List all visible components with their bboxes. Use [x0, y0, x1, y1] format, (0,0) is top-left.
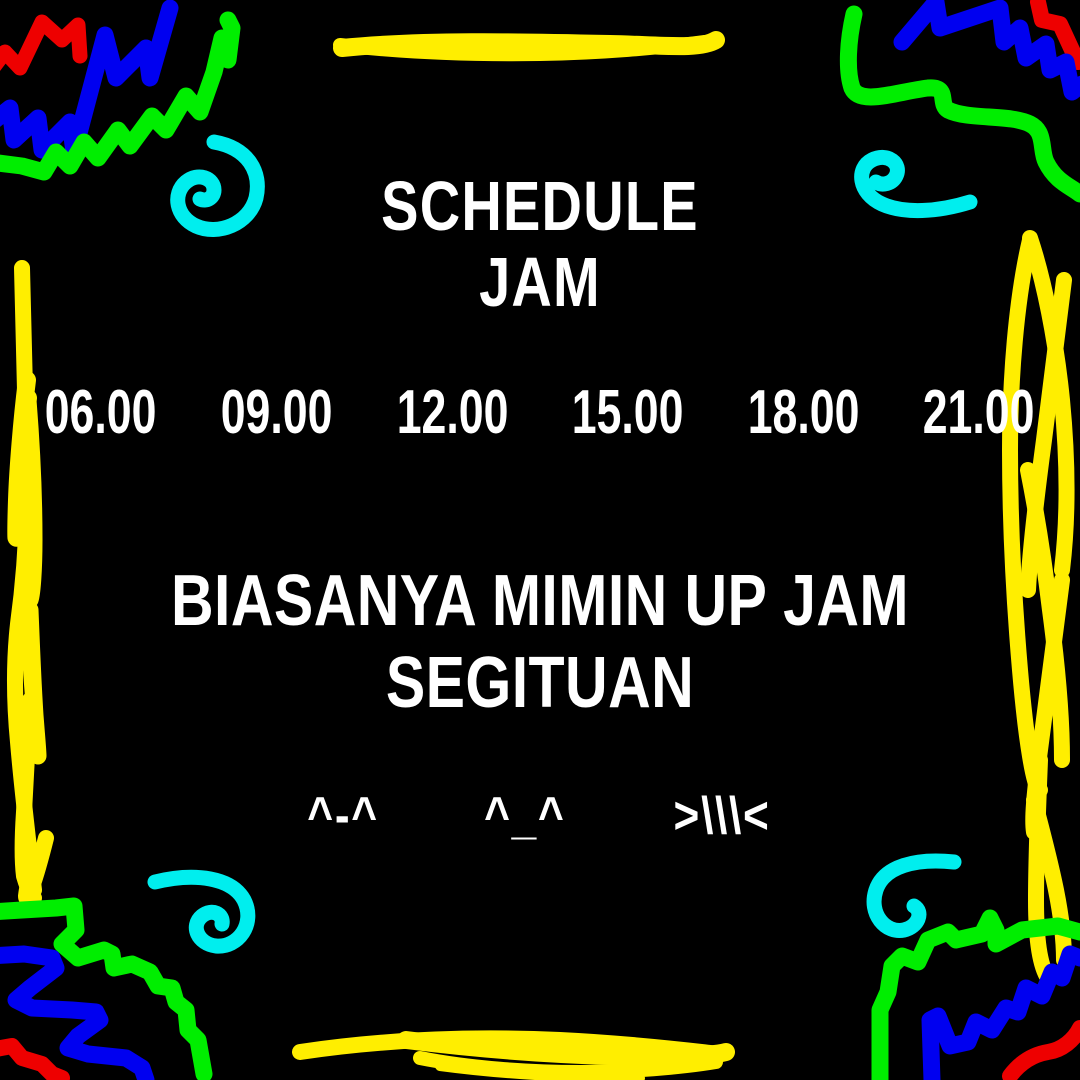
message-block: BIASANYA MIMIN UP JAM SEGITUAN [0, 560, 1080, 724]
page-title: SCHEDULE JAM [0, 168, 1080, 320]
message-line-1: BIASANYA MIMIN UP JAM [97, 560, 983, 642]
schedule-time-3: 15.00 [563, 380, 692, 446]
title-line-schedule: SCHEDULE [108, 168, 972, 244]
schedule-time-1: 09.00 [212, 380, 341, 446]
schedule-time-4: 18.00 [739, 380, 868, 446]
emoticon-2: >\\\< [674, 786, 771, 846]
schedule-time-5: 21.00 [915, 380, 1044, 446]
poster-canvas: SCHEDULE JAM 06.00 09.00 12.00 15.00 18.… [0, 0, 1080, 1080]
emoticon-1: ^_^ [484, 786, 565, 846]
emoticon-0: ^-^ [307, 786, 378, 846]
schedule-time-2: 12.00 [388, 380, 517, 446]
message-line-2: SEGITUAN [97, 642, 983, 724]
title-line-jam: JAM [108, 244, 972, 320]
schedule-times-row: 06.00 09.00 12.00 15.00 18.00 21.00 [0, 380, 1080, 446]
schedule-time-0: 06.00 [36, 380, 165, 446]
emoticons-row: ^-^ ^_^ >\\\< [0, 786, 1080, 846]
poster-content: SCHEDULE JAM 06.00 09.00 12.00 15.00 18.… [0, 0, 1080, 1080]
